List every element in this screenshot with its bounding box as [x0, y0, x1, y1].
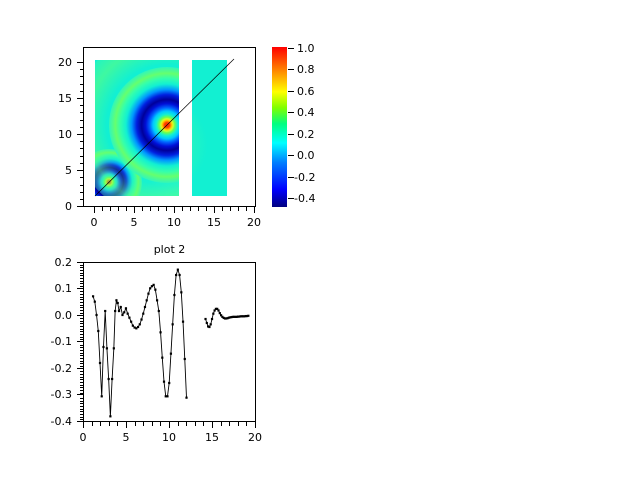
minor-tick	[80, 270, 84, 271]
xtick-label-plot2-4: 20	[241, 431, 269, 444]
data-point-marker	[175, 274, 177, 276]
minor-tick	[80, 419, 84, 420]
data-point-marker	[102, 346, 104, 348]
minor-tick	[80, 398, 84, 399]
colorbar-label-topleft-3: 0.4	[297, 106, 315, 119]
minor-tick	[80, 409, 84, 410]
figure-canvas: 0 5 10 15 20 0	[0, 0, 640, 480]
colorbar-label-topleft-4: 0.2	[297, 128, 315, 141]
colorbar-label-topleft-5: 0.0	[297, 149, 315, 162]
data-point-marker	[137, 326, 139, 328]
data-point-marker	[158, 310, 160, 312]
minor-tick	[80, 334, 84, 335]
minor-tick	[80, 286, 84, 287]
panel-topright: plot 1 0 20	[320, 0, 640, 240]
minor-tick	[80, 265, 84, 266]
data-point-marker	[219, 312, 221, 314]
xtick-label-topleft-2: 10	[160, 216, 188, 229]
minor-tick	[80, 331, 84, 332]
panel-bottomleft: plot 2 0.2 0.1 0.0 -0.1 -0.2 -0.3 -0.4	[0, 240, 320, 480]
minor-tick	[80, 347, 84, 348]
ytick-label-topleft-0: 0	[42, 200, 72, 213]
minor-tick	[80, 390, 84, 391]
minor-tick	[80, 321, 84, 322]
data-point-marker	[115, 299, 117, 301]
minor-tick	[80, 318, 84, 319]
data-point-marker	[97, 330, 99, 332]
data-point-marker	[212, 313, 214, 315]
xtick-label-plot2-0: 0	[69, 431, 97, 444]
data-point-marker	[130, 321, 132, 323]
ytick-label-plot2-0: 0.2	[34, 256, 72, 269]
minor-tick	[80, 339, 84, 340]
minor-tick	[80, 299, 84, 300]
minor-tick	[80, 379, 84, 380]
data-point-marker	[146, 299, 148, 301]
minor-tick	[80, 337, 84, 338]
ytick-label-plot2-4: -0.2	[34, 362, 72, 375]
data-point-marker	[180, 291, 182, 293]
minor-tick	[80, 355, 84, 356]
minor-tick	[80, 387, 84, 388]
xtick-label-plot2-2: 10	[155, 431, 183, 444]
data-point-marker	[217, 309, 219, 311]
ytick-label-plot2-1: 0.1	[34, 282, 72, 295]
ytick-label-topleft-4: 20	[42, 56, 72, 69]
data-point-marker	[120, 306, 122, 308]
data-point-marker	[125, 307, 127, 309]
ytick-label-plot2-6: -0.4	[34, 415, 72, 428]
minor-tick	[80, 273, 84, 274]
data-point-marker	[185, 397, 187, 399]
ytick-label-topleft-1: 5	[42, 164, 72, 177]
colorbar-label-topleft-7: -0.4	[294, 192, 315, 205]
data-point-marker	[172, 323, 174, 325]
data-point-marker	[168, 382, 170, 384]
minor-tick	[80, 294, 84, 295]
minor-tick	[80, 401, 84, 402]
minor-tick	[80, 302, 84, 303]
minor-tick	[80, 374, 84, 375]
data-point-marker	[204, 318, 206, 320]
minor-tick	[80, 307, 84, 308]
panel-topleft: 0 5 10 15 20 0	[0, 0, 320, 240]
data-point-marker	[159, 331, 161, 333]
minor-tick	[80, 323, 84, 324]
minor-tick	[80, 406, 84, 407]
data-point-marker	[128, 317, 130, 319]
minor-tick	[80, 297, 84, 298]
minor-tick	[80, 278, 84, 279]
data-point-marker	[95, 314, 97, 316]
data-point-marker	[117, 302, 119, 304]
data-point-marker	[139, 323, 141, 325]
data-point-marker	[144, 306, 146, 308]
colorbar-label-topleft-1: 0.8	[297, 63, 315, 76]
data-point-marker	[94, 301, 96, 303]
ytick-label-plot2-5: -0.3	[34, 388, 72, 401]
data-point-marker	[104, 310, 106, 312]
data-point-marker	[123, 311, 125, 313]
plot2-line-series	[84, 263, 257, 423]
minor-tick	[80, 310, 84, 311]
data-point-marker	[247, 315, 249, 317]
colorbar-label-topleft-2: 0.6	[297, 85, 315, 98]
minor-tick	[80, 411, 84, 412]
data-point-marker	[208, 326, 210, 328]
minor-tick	[80, 267, 84, 268]
ytick-label-plot2-2: 0.0	[34, 309, 72, 322]
data-point-marker	[101, 395, 103, 397]
data-point-marker	[177, 269, 179, 271]
data-point-marker	[92, 295, 94, 297]
minor-tick	[80, 283, 84, 284]
data-point-marker	[154, 289, 156, 291]
minor-tick	[80, 353, 84, 354]
data-point-marker	[182, 321, 184, 323]
ytick-label-topleft-2: 10	[42, 128, 72, 141]
minor-tick	[80, 275, 84, 276]
data-point-marker	[211, 318, 213, 320]
ytick-label-topleft-3: 15	[42, 92, 72, 105]
colorbar-topleft	[272, 47, 287, 207]
minor-tick	[80, 417, 84, 418]
axes-plot2	[83, 262, 256, 422]
minor-tick	[80, 350, 84, 351]
data-point-marker	[140, 318, 142, 320]
data-point-marker	[109, 415, 111, 417]
data-point-marker	[108, 378, 110, 380]
ytick-label-plot2-3: -0.1	[34, 335, 72, 348]
minor-tick	[80, 403, 84, 404]
data-point-marker	[121, 314, 123, 316]
data-point-marker	[106, 347, 108, 349]
minor-tick	[80, 363, 84, 364]
data-point-marker	[142, 313, 144, 315]
data-point-marker	[149, 287, 151, 289]
xtick-label-topleft-0: 0	[80, 216, 108, 229]
minor-tick	[80, 326, 84, 327]
minor-tick	[80, 345, 84, 346]
minor-tick	[80, 358, 84, 359]
data-point-marker	[166, 395, 168, 397]
xtick-label-topleft-1: 5	[120, 216, 148, 229]
minor-tick	[80, 385, 84, 386]
axes-topleft	[83, 47, 256, 207]
line-path	[93, 270, 186, 417]
minor-tick	[80, 414, 84, 415]
data-point-marker	[170, 353, 172, 355]
minor-tick	[80, 361, 84, 362]
panel-bottomright: plot 3 0 20 40	[320, 240, 640, 480]
data-point-marker	[111, 378, 113, 380]
data-point-marker	[113, 347, 115, 349]
minor-tick	[80, 377, 84, 378]
minor-tick	[80, 393, 84, 394]
data-point-marker	[99, 362, 101, 364]
data-point-marker	[118, 310, 120, 312]
xtick-label-plot2-1: 5	[112, 431, 140, 444]
data-point-marker	[153, 284, 155, 286]
xtick-label-plot2-3: 15	[198, 431, 226, 444]
minor-tick	[80, 371, 84, 372]
colorbar-label-topleft-6: -0.2	[294, 171, 315, 184]
minor-tick	[80, 329, 84, 330]
colorbar-label-topleft-0: 1.0	[297, 42, 315, 55]
diagonal-overlay-line	[84, 48, 257, 208]
data-point-marker	[161, 357, 163, 359]
minor-tick	[80, 313, 84, 314]
minor-tick	[80, 382, 84, 383]
data-point-marker	[156, 299, 158, 301]
xtick-label-topleft-4: 20	[240, 216, 268, 229]
data-point-marker	[178, 274, 180, 276]
panel-title-plot2: plot 2	[83, 243, 256, 256]
data-point-marker	[163, 381, 165, 383]
minor-tick	[80, 305, 84, 306]
data-point-marker	[173, 294, 175, 296]
data-point-marker	[147, 293, 149, 295]
data-point-marker	[184, 358, 186, 360]
minor-tick	[80, 366, 84, 367]
data-point-marker	[127, 313, 129, 315]
minor-tick	[80, 291, 84, 292]
data-point-marker	[114, 310, 116, 312]
data-point-marker	[206, 322, 208, 324]
xtick-label-topleft-3: 15	[200, 216, 228, 229]
data-point-marker	[210, 323, 212, 325]
minor-tick	[80, 281, 84, 282]
